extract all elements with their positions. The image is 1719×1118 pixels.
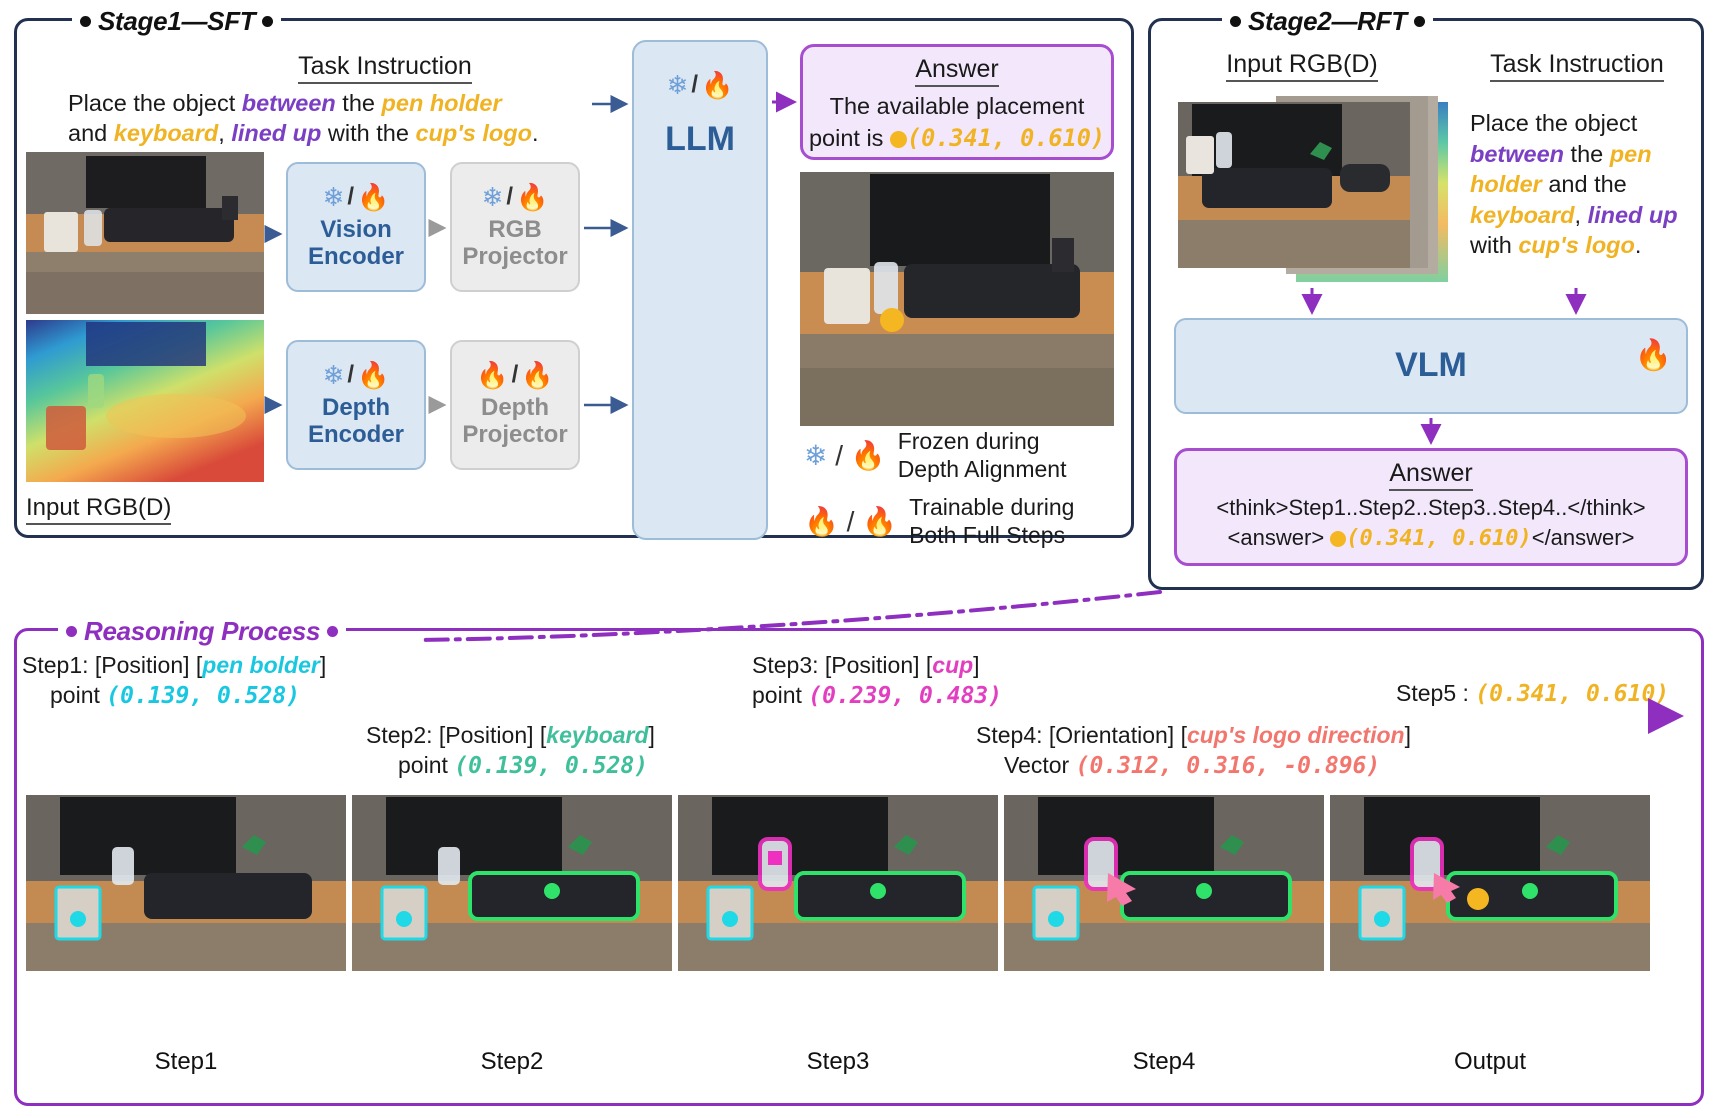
fire-icon: 🔥 (357, 184, 389, 210)
txt: point is (809, 125, 890, 151)
stage1-task-heading: Task Instruction (298, 52, 472, 84)
txt: and (68, 120, 114, 146)
bullet-right-icon (327, 626, 338, 637)
depth-projector-module[interactable]: 🔥 / 🔥 Depth Projector (450, 340, 580, 470)
reasoning-step3-line1: Step3: [Position] [cup] (752, 652, 980, 679)
kw-keyboard: keyboard (114, 120, 219, 146)
fire-icon: 🔥 (521, 362, 553, 388)
step1-target: pen bolder (202, 652, 320, 678)
kw-lined-up: lined up (231, 120, 321, 146)
step4-kind: [Orientation] (1049, 722, 1174, 748)
reasoning-step2-line1: Step2: [Position] [keyboard] (366, 722, 655, 749)
kw-holder: holder (1470, 171, 1542, 197)
answer-point-dot-icon (1330, 531, 1346, 547)
snowflake-icon: ❄ (323, 184, 345, 210)
vision-encoder-module[interactable]: ❄ / 🔥 Vision Encoder (286, 162, 426, 292)
bullet-right-icon (262, 16, 273, 27)
reasoning-step1-line2: point (0.139, 0.528) (50, 682, 300, 709)
reasoning-thumb-output (1330, 795, 1650, 971)
stage2-title: Stage2—RFT (1222, 6, 1433, 37)
step3-value-label: point (752, 682, 802, 708)
legend-1-line1: Frozen during (898, 428, 1067, 456)
txt: the (336, 90, 382, 116)
stage2-answer-think: <think>Step1..Step2..Step3..Step4..</thi… (1177, 495, 1685, 521)
stage1-title-label: Stage1—SFT (98, 6, 255, 37)
reasoning-title: Reasoning Process (58, 616, 346, 647)
stage1-input-label: Input RGB(D) (26, 494, 171, 525)
txt: , (1575, 202, 1588, 228)
llm-module[interactable]: ❄ / 🔥 LLM (632, 40, 768, 540)
stage2-task-line-5: with cup's logo. (1470, 230, 1696, 261)
kw-keyboard: keyboard (1470, 202, 1575, 228)
stage1-task-line1: Place the object between the pen holder (68, 88, 502, 119)
step4-value: (0.312, 0.316, -0.896) (1076, 753, 1381, 779)
step2-value-label: point (398, 752, 448, 778)
txt: , (218, 120, 231, 146)
kw-between: between (1470, 141, 1564, 167)
step3-kind: [Position] (825, 652, 920, 678)
vision-encoder-label-2: Encoder (308, 244, 404, 271)
stage1-task-heading-wrap: Task Instruction (200, 52, 570, 84)
legend-row-2: 🔥 / 🔥 Trainable during Both Full Steps (804, 494, 1074, 549)
stage2-title-label: Stage2—RFT (1248, 6, 1407, 37)
fire-icon: 🔥 (701, 72, 733, 98)
step1-label: Step1 (22, 652, 82, 678)
rgb-projector-module[interactable]: ❄ / 🔥 RGB Projector (450, 162, 580, 292)
answer-point-dot-icon (890, 131, 907, 148)
stage2-answer-line: <answer> (0.341, 0.610)</answer> (1177, 525, 1685, 551)
reasoning-step4-line1: Step4: [Orientation] [cup's logo directi… (976, 722, 1411, 749)
step2-kind: [Position] (439, 722, 534, 748)
slash-separator: / (512, 363, 519, 387)
depth-projector-label-2: Projector (462, 422, 567, 449)
slash-separator: / (691, 73, 698, 97)
depth-encoder-label-2: Encoder (308, 422, 404, 449)
stage1-input-rgb-photo (26, 152, 264, 314)
step4-label: Step4 (976, 722, 1036, 748)
stage1-answer-coords: (0.341, 0.610) (907, 124, 1105, 152)
legend-2-line2: Both Full Steps (909, 522, 1074, 550)
slash-separator: / (347, 363, 354, 387)
fire-icon: 🔥 (516, 184, 548, 210)
bullet-left-icon (80, 16, 91, 27)
rgb-projector-label-2: Projector (462, 244, 567, 271)
vlm-label: VLM (1176, 346, 1686, 385)
txt: </answer> (1532, 525, 1635, 550)
legend-row-1: ❄ / 🔥 Frozen during Depth Alignment (804, 428, 1066, 483)
stage1-answer-heading: Answer (915, 55, 998, 87)
thumb-caption-4: Step4 (1004, 1048, 1324, 1076)
step2-label: Step2 (366, 722, 426, 748)
stage2-answer-box: Answer <think>Step1..Step2..Step3..Step4… (1174, 448, 1688, 566)
stage2-task-heading: Task Instruction (1490, 50, 1664, 82)
stage2-answer-heading: Answer (1389, 459, 1472, 491)
depth-projector-label-1: Depth (481, 395, 549, 422)
depth-encoder-module[interactable]: ❄ / 🔥 Depth Encoder (286, 340, 426, 470)
stage2-task-line-1: Place the object (1470, 108, 1696, 139)
reasoning-step1-line1: Step1: [Position] [pen bolder] (22, 652, 326, 679)
rgb-projector-label-1: RGB (488, 217, 541, 244)
step2-target: keyboard (546, 722, 648, 748)
vision-encoder-icons: ❄ / 🔥 (323, 184, 390, 210)
fire-icon: 🔥 (357, 362, 389, 388)
thumb-caption-1: Step1 (26, 1048, 346, 1076)
stage1-input-depth-photo (26, 320, 264, 482)
stage2-task-line-4: keyboard, lined up (1470, 200, 1696, 231)
step3-value: (0.239, 0.483) (808, 683, 1002, 709)
vlm-module[interactable]: VLM 🔥 (1174, 318, 1688, 414)
kw-between: between (242, 90, 336, 116)
bullet-left-icon (66, 626, 77, 637)
legend-text-2: Trainable during Both Full Steps (909, 494, 1074, 549)
stage1-title: Stage1—SFT (72, 6, 281, 37)
reasoning-thumb-step1 (26, 795, 346, 971)
txt: with the (321, 120, 415, 146)
txt: . (532, 120, 539, 146)
bullet-left-icon (1230, 16, 1241, 27)
kw-pen: pen (1610, 141, 1652, 167)
legend-icons-2: 🔥 / 🔥 (804, 505, 897, 538)
depth-encoder-icons: ❄ / 🔥 (323, 362, 390, 388)
step5-value: (0.341, 0.610) (1475, 681, 1669, 707)
txt: the (1564, 141, 1610, 167)
thumb-caption-5: Output (1330, 1048, 1650, 1076)
snowflake-icon: ❄ (482, 184, 504, 210)
stage2-input-label: Input RGB(D) (1226, 50, 1377, 82)
txt: Place the object (68, 90, 242, 116)
stage1-task-line2: and keyboard, lined up with the cup's lo… (68, 118, 539, 149)
stage2-answer-coords: (0.341, 0.610) (1346, 526, 1531, 551)
kw-pen-holder: pen holder (382, 90, 502, 116)
reasoning-thumb-step2 (352, 795, 672, 971)
reasoning-step2-line2: point (0.139, 0.528) (398, 752, 648, 779)
stage1-input-label-wrap: Input RGB(D) (26, 494, 171, 525)
step2-value: (0.139, 0.528) (454, 753, 648, 779)
bullet-right-icon (1414, 16, 1425, 27)
snowflake-icon: ❄ (323, 362, 345, 388)
step1-kind: [Position] (95, 652, 190, 678)
reasoning-step4-line2: Vector (0.312, 0.316, -0.896) (1004, 752, 1380, 779)
kw-lined-up: lined up (1588, 202, 1678, 228)
txt: Place the object (1470, 110, 1637, 136)
txt: . (1635, 232, 1642, 258)
stage1-answer-photo (800, 172, 1114, 426)
fire-icon: 🔥 (1635, 338, 1672, 373)
stage1-answer-line2: point is (0.341, 0.610) (803, 123, 1111, 154)
reasoning-step5: Step5 : (0.341, 0.610) (1396, 680, 1669, 707)
thumb-caption-3: Step3 (678, 1048, 998, 1076)
txt: and the (1542, 171, 1627, 197)
stage2-input-heading-wrap: Input RGB(D) (1168, 50, 1436, 82)
legend-2-line1: Trainable during (909, 494, 1074, 522)
slash-separator: / (506, 185, 513, 209)
step4-target: cup's logo direction (1187, 722, 1405, 748)
stage2-task-heading-wrap: Task Instruction (1462, 50, 1692, 82)
depth-projector-icons: 🔥 / 🔥 (476, 362, 553, 388)
llm-label: LLM (665, 120, 735, 159)
rgb-projector-icons: ❄ / 🔥 (482, 184, 549, 210)
reasoning-thumb-step3 (678, 795, 998, 971)
stage2-input-rgbd-photo (1178, 96, 1448, 282)
fire-icon: 🔥 (476, 362, 508, 388)
step3-target: cup (932, 652, 973, 678)
reasoning-step3-line2: point (0.239, 0.483) (752, 682, 1002, 709)
snowflake-icon: ❄ (667, 72, 689, 98)
vision-encoder-label-1: Vision (320, 217, 392, 244)
step3-label: Step3 (752, 652, 812, 678)
stage2-task-line-2: between the pen (1470, 139, 1696, 170)
stage2-task-line-3: holder and the (1470, 169, 1696, 200)
thumb-caption-2: Step2 (352, 1048, 672, 1076)
reasoning-thumb-step4 (1004, 795, 1324, 971)
legend-text-1: Frozen during Depth Alignment (898, 428, 1067, 483)
step5-label: Step5 (1396, 680, 1456, 706)
kw-cups-logo: cup's logo (415, 120, 532, 146)
txt: with (1470, 232, 1518, 258)
legend-1-line2: Depth Alignment (898, 456, 1067, 484)
step1-value: (0.139, 0.528) (106, 683, 300, 709)
step1-value-label: point (50, 682, 100, 708)
txt: <answer> (1228, 525, 1331, 550)
slash-separator: / (347, 185, 354, 209)
kw-cups-logo: cup's logo (1518, 232, 1635, 258)
stage1-answer-line1: The available placement (803, 91, 1111, 122)
stage2-task-lines: Place the object between the pen holder … (1470, 108, 1696, 261)
llm-icons: ❄ / 🔥 (667, 72, 734, 98)
legend-icons-1: ❄ / 🔥 (804, 439, 886, 472)
reasoning-title-label: Reasoning Process (84, 616, 320, 647)
stage1-answer-box: Answer The available placement point is … (800, 44, 1114, 160)
step4-value-label: Vector (1004, 752, 1069, 778)
depth-encoder-label-1: Depth (322, 395, 390, 422)
